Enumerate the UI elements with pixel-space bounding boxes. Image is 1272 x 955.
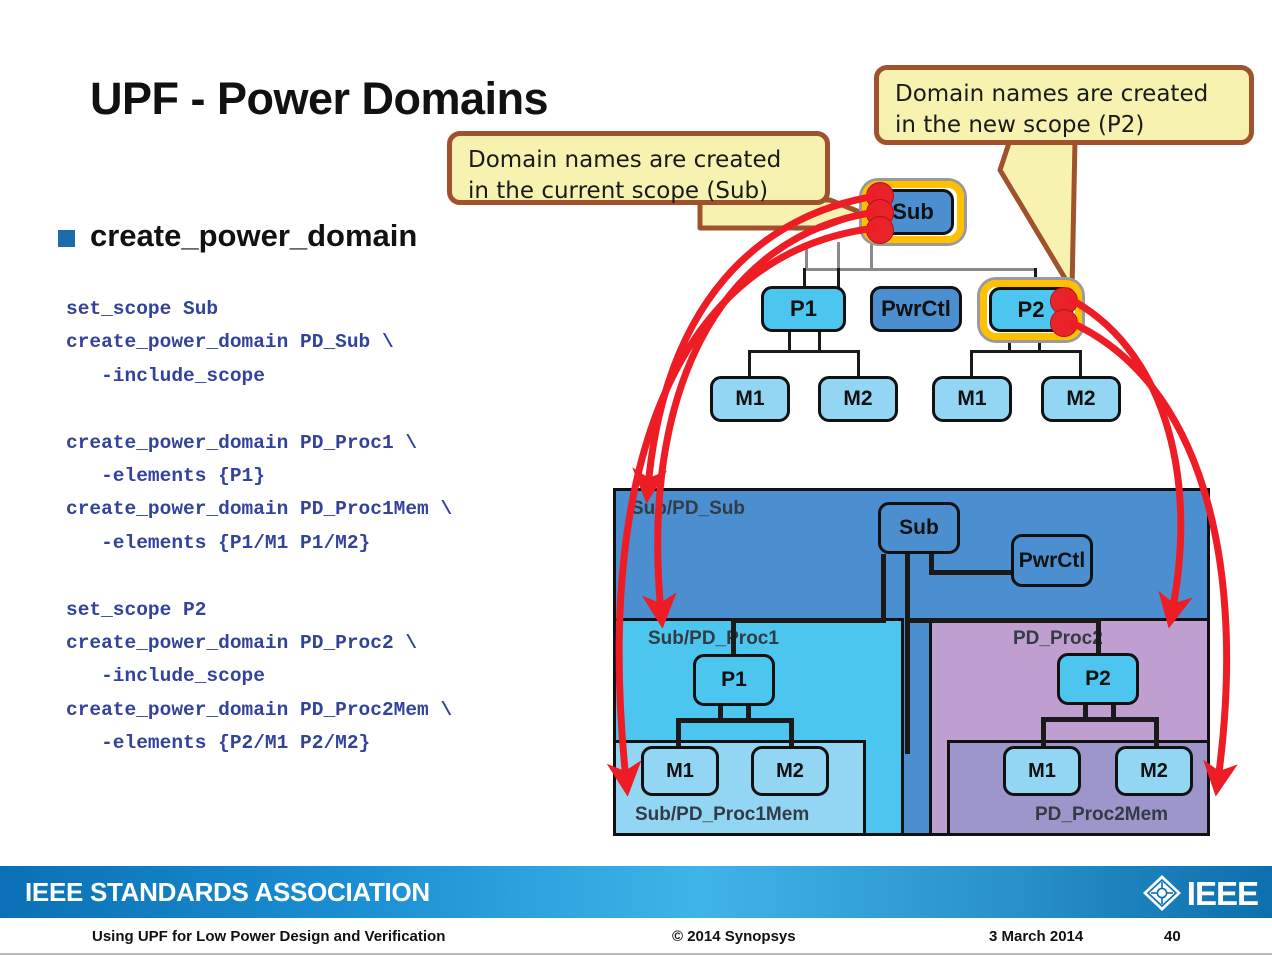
tree-node-p1-m1[interactable]: M1 xyxy=(710,376,790,422)
pd-node-p2-m2[interactable]: M2 xyxy=(1115,746,1193,796)
pd-wire xyxy=(905,554,910,754)
callout-new-scope-line1: Domain names are created xyxy=(895,79,1235,110)
callout-new-scope-line2: in the new scope (P2) xyxy=(895,110,1235,141)
pd-wire xyxy=(881,554,886,622)
region-label-pd-proc1mem: Sub/PD_Proc1Mem xyxy=(635,804,809,826)
ieee-logo-word: IEEE xyxy=(1187,877,1258,910)
region-label-pd-proc2: PD_Proc2 xyxy=(1013,628,1103,650)
upf-code-block: set_scope Sub create_power_domain PD_Sub… xyxy=(66,293,452,761)
ieee-logo: IEEE xyxy=(1141,873,1258,913)
tree-wire xyxy=(748,350,860,353)
tree-wire xyxy=(970,350,973,376)
pd-node-pwrctl[interactable]: PwrCtl xyxy=(1011,534,1093,587)
arrow-sub-to-pd-sub xyxy=(648,196,876,487)
tree-wire xyxy=(837,242,840,270)
pd-node-sub[interactable]: Sub xyxy=(878,502,960,554)
region-label-pd-proc2mem: PD_Proc2Mem xyxy=(1035,804,1168,826)
footer-course-title: Using UPF for Low Power Design and Verif… xyxy=(92,928,445,945)
pd-wire xyxy=(731,618,736,658)
tree-wire xyxy=(805,242,808,270)
slide-canvas: UPF - Power Domains create_power_domain … xyxy=(0,0,1272,955)
pd-wire xyxy=(731,618,886,623)
page-title: UPF - Power Domains xyxy=(90,73,548,125)
pd-wire xyxy=(929,570,1014,575)
footer-date: 3 March 2014 xyxy=(989,928,1083,945)
pd-node-p2[interactable]: P2 xyxy=(1057,653,1139,705)
pd-wire xyxy=(1096,618,1101,658)
tree-wire xyxy=(818,332,821,352)
tree-wire xyxy=(803,268,806,288)
callout-current-scope: Domain names are created in the current … xyxy=(447,131,830,205)
footer-copyright: © 2014 Synopsys xyxy=(672,928,796,945)
tree-node-p1-m2[interactable]: M2 xyxy=(818,376,898,422)
callout-current-scope-line1: Domain names are created xyxy=(468,145,811,176)
tree-node-pwrctl[interactable]: PwrCtl xyxy=(870,286,962,332)
pd-node-p1-m1[interactable]: M1 xyxy=(641,746,719,796)
tree-wire xyxy=(837,268,840,288)
pd-node-p2-m1[interactable]: M1 xyxy=(1003,746,1081,796)
tree-wire xyxy=(870,242,873,270)
bullet-square-icon xyxy=(58,230,75,247)
footer-brand-bar: IEEE STANDARDS ASSOCIATION IEEE xyxy=(0,866,1272,918)
tree-wire xyxy=(857,350,860,376)
bullet-heading-label: create_power_domain xyxy=(90,218,417,254)
tree-node-p2-m1[interactable]: M1 xyxy=(932,376,1012,422)
pd-wire xyxy=(905,618,1100,623)
tree-wire xyxy=(970,350,1082,353)
pd-wire xyxy=(1041,717,1046,749)
pd-wire xyxy=(1154,717,1159,749)
marker-dot xyxy=(866,216,894,244)
region-label-pd-proc1: Sub/PD_Proc1 xyxy=(648,628,779,650)
pd-wire xyxy=(1041,717,1159,722)
tree-wire xyxy=(788,332,791,352)
pd-node-p1[interactable]: P1 xyxy=(693,654,775,706)
footer-page-number: 40 xyxy=(1164,928,1181,945)
pd-node-p1-m2[interactable]: M2 xyxy=(751,746,829,796)
tree-node-p1[interactable]: P1 xyxy=(761,286,846,332)
tree-wire xyxy=(748,350,751,376)
marker-dot xyxy=(1050,309,1078,337)
pd-wire xyxy=(676,718,793,723)
callout-current-scope-line2: in the current scope (Sub) xyxy=(468,176,811,207)
footer-brand-label: IEEE STANDARDS ASSOCIATION xyxy=(25,877,430,908)
tree-wire xyxy=(1079,350,1082,376)
tree-node-p2-m2[interactable]: M2 xyxy=(1041,376,1121,422)
ieee-diamond-icon xyxy=(1141,873,1183,913)
region-label-pd-sub: Sub/PD_Sub xyxy=(631,498,745,520)
callout-new-scope: Domain names are created in the new scop… xyxy=(874,65,1254,145)
bullet-heading: create_power_domain xyxy=(58,218,417,254)
power-domain-diagram: Sub/PD_Sub Sub/PD_Proc1 Sub/PD_Proc1Mem … xyxy=(613,488,1210,836)
